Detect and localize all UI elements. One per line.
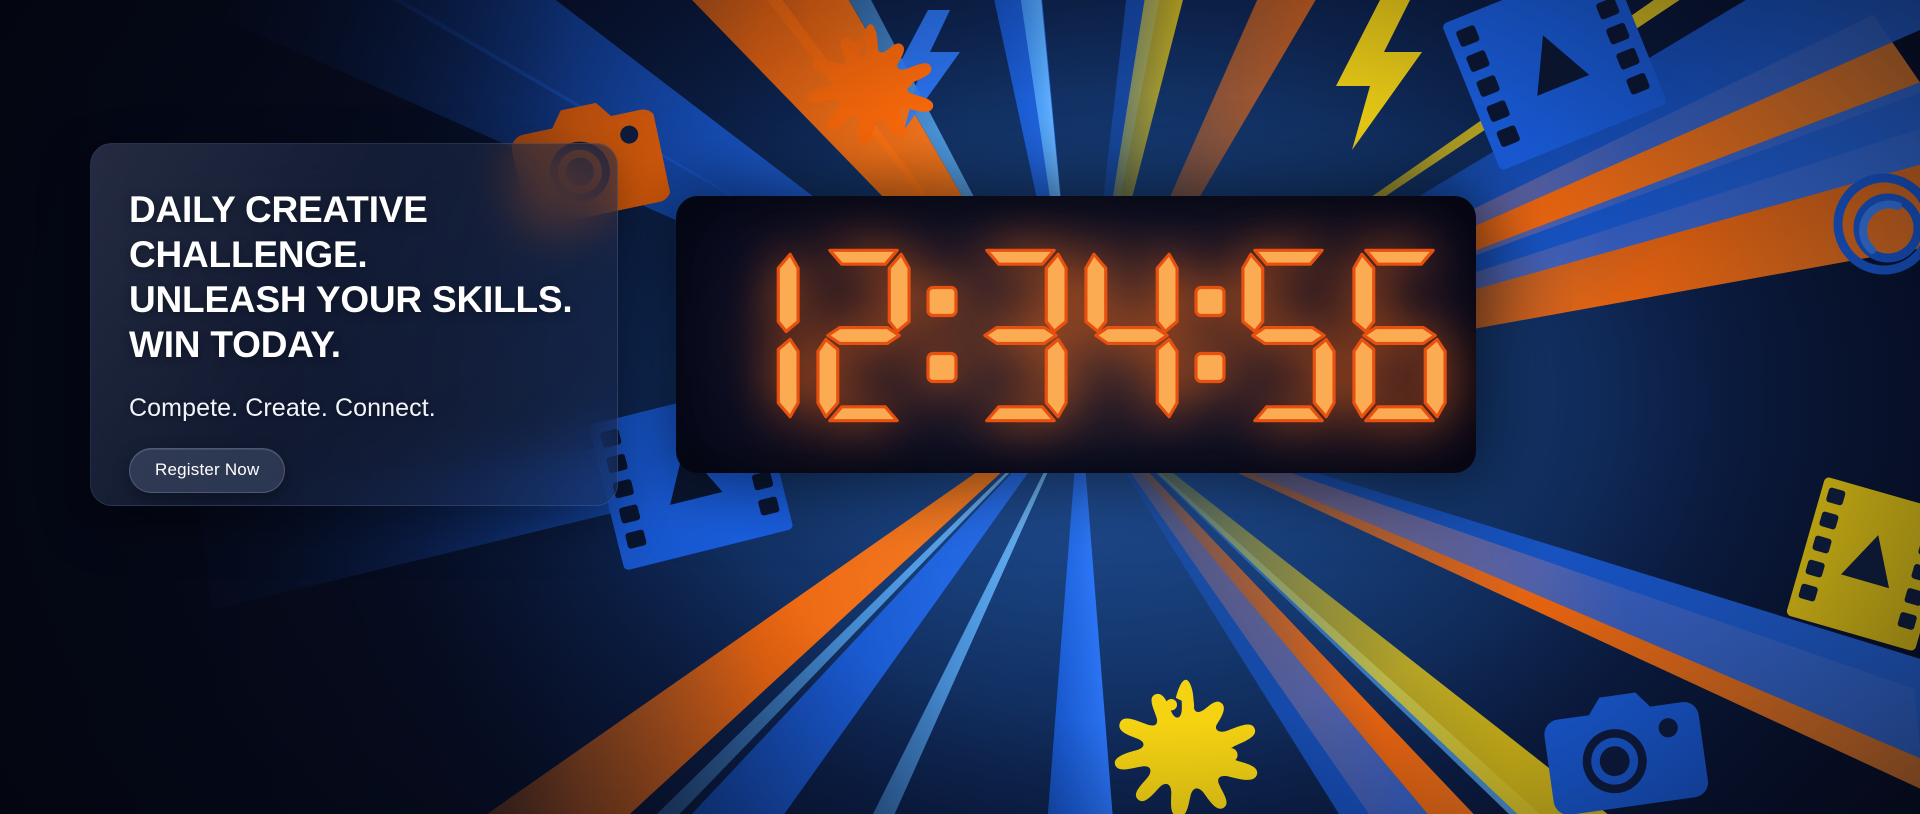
seven-segment-digit	[1235, 237, 1342, 432]
countdown-digits	[697, 237, 1455, 432]
seven-segment-digit	[810, 237, 917, 432]
clock-colon-separator	[1187, 237, 1233, 432]
hero-banner: DAILY CREATIVE CHALLENGE. UNLEASH YOUR S…	[0, 0, 1920, 814]
clock-colon-separator	[919, 237, 965, 432]
page-title: DAILY CREATIVE CHALLENGE. UNLEASH YOUR S…	[129, 188, 617, 368]
seven-segment-digit	[699, 237, 806, 432]
seven-segment-digit	[967, 237, 1074, 432]
register-now-button[interactable]: Register Now	[129, 448, 285, 493]
seven-segment-digit	[1078, 237, 1185, 432]
hero-text-card: DAILY CREATIVE CHALLENGE. UNLEASH YOUR S…	[90, 143, 618, 506]
subheadline: Compete. Create. Connect.	[129, 394, 617, 423]
countdown-clock-panel	[676, 196, 1476, 473]
card-content: DAILY CREATIVE CHALLENGE. UNLEASH YOUR S…	[91, 144, 617, 493]
seven-segment-digit	[1346, 237, 1453, 432]
